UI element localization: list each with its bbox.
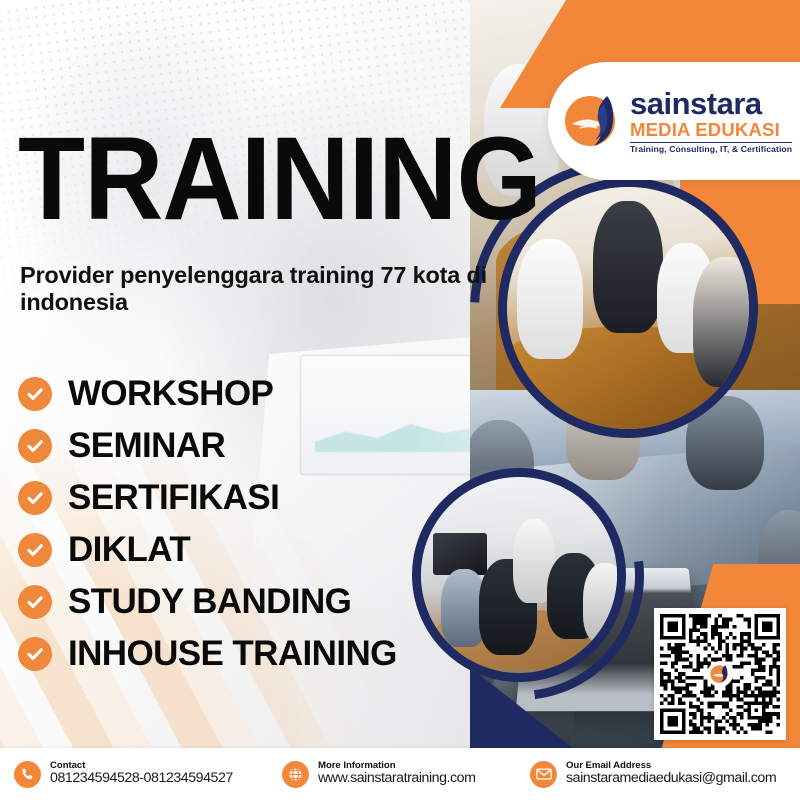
footer-website-block[interactable]: More Information www.sainstaratraining.c… <box>282 761 530 788</box>
brand-logo-card: sainstara MEDIA EDUKASI Training, Consul… <box>548 62 800 180</box>
meeting-presentation-photo-circle <box>412 468 626 682</box>
brand-name: sainstara <box>630 88 792 119</box>
footer-email-block[interactable]: Our Email Address sainstaramediaedukasi@… <box>530 761 786 788</box>
footer-contact-block[interactable]: Contact 081234594528-081234594527 <box>14 761 282 788</box>
footer-email-value: sainstaramediaedukasi@gmail.com <box>566 771 776 787</box>
check-circle-icon <box>18 481 52 515</box>
list-item-label: SEMINAR <box>68 428 225 463</box>
brand-logo-text: sainstara MEDIA EDUKASI Training, Consul… <box>630 88 792 154</box>
list-item: INHOUSE TRAINING <box>18 636 397 671</box>
list-item-label: DIKLAT <box>68 532 190 567</box>
list-item-label: WORKSHOP <box>68 376 273 411</box>
page-subtitle: Provider penyelenggara training 77 kota … <box>20 262 490 317</box>
check-circle-icon <box>18 429 52 463</box>
check-circle-icon <box>18 533 52 567</box>
footer-website-text: More Information www.sainstaratraining.c… <box>318 761 476 788</box>
list-item-label: INHOUSE TRAINING <box>68 636 397 671</box>
services-list: WORKSHOP SEMINAR SERTIFIKASI DIKLAT STUD… <box>18 376 397 671</box>
check-circle-icon <box>18 585 52 619</box>
page-title: TRAINING <box>18 128 541 232</box>
phone-icon <box>14 761 41 788</box>
list-item: SEMINAR <box>18 428 397 463</box>
footer-contact-bar: Contact 081234594528-081234594527 More I… <box>0 748 800 800</box>
envelope-icon <box>530 761 557 788</box>
list-item: DIKLAT <box>18 532 397 567</box>
list-item: STUDY BANDING <box>18 584 397 619</box>
footer-website-value: www.sainstaratraining.com <box>318 771 476 787</box>
sainstara-flame-logo-icon <box>707 661 733 687</box>
list-item: WORKSHOP <box>18 376 397 411</box>
sainstara-flame-logo-icon <box>562 90 624 152</box>
qr-code[interactable] <box>654 608 786 740</box>
footer-email-text: Our Email Address sainstaramediaedukasi@… <box>566 761 776 788</box>
list-item: SERTIFIKASI <box>18 480 397 515</box>
footer-contact-value: 081234594528-081234594527 <box>50 771 233 787</box>
brand-subtitle: MEDIA EDUKASI <box>630 121 792 140</box>
footer-contact-text: Contact 081234594528-081234594527 <box>50 761 233 788</box>
brand-tagline: Training, Consulting, IT, & Certificatio… <box>630 142 792 154</box>
globe-icon <box>282 761 309 788</box>
check-circle-icon <box>18 377 52 411</box>
list-item-label: STUDY BANDING <box>68 584 351 619</box>
training-poster: sainstara MEDIA EDUKASI Training, Consul… <box>0 0 800 800</box>
list-item-label: SERTIFIKASI <box>68 480 279 515</box>
check-circle-icon <box>18 637 52 671</box>
